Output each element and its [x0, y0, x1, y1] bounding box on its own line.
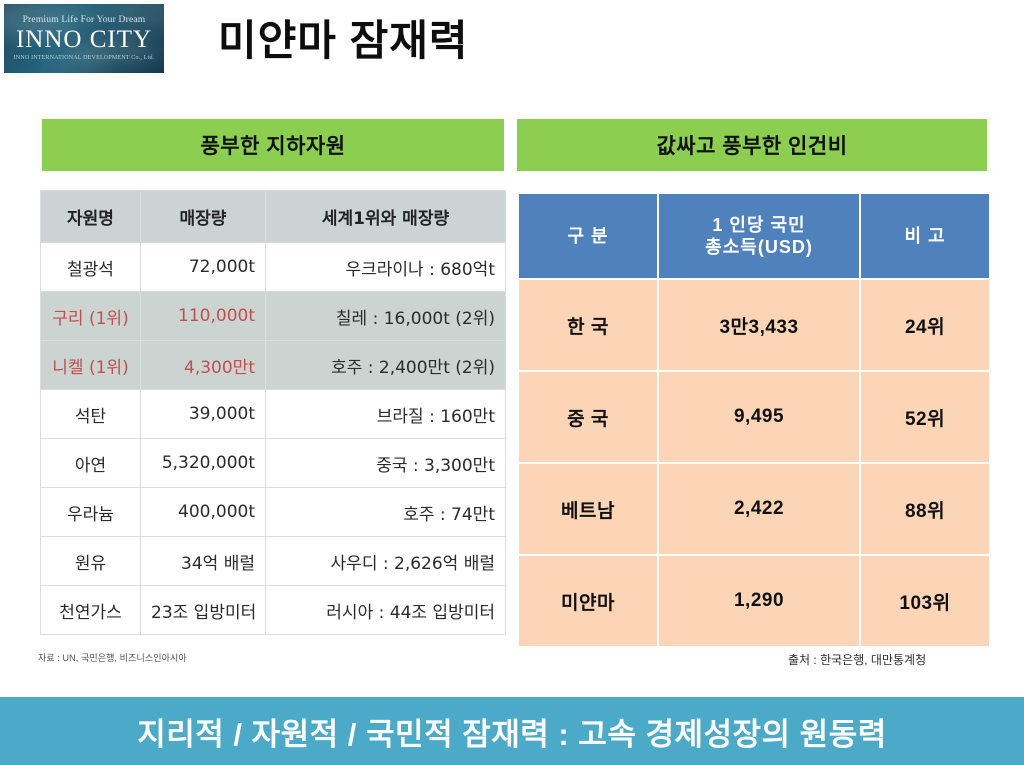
- table-row: 한 국 3만3,433 24위: [519, 280, 989, 370]
- cell-resource-name: 석탄: [41, 390, 141, 439]
- cell-rank: 24위: [861, 280, 989, 370]
- cell-country: 베트남: [519, 464, 657, 554]
- cell-resource-name: 니켈 (1위): [41, 341, 141, 390]
- cell-world-top: 브라질 : 160만t: [266, 390, 506, 439]
- cell-gni: 3만3,433: [659, 280, 859, 370]
- cell-resource-amount: 39,000t: [141, 390, 266, 439]
- table-header-row: 구 분 1 인당 국민 총소득(USD) 비 고: [519, 194, 989, 278]
- column-header-world-top: 세계1위와 매장량: [266, 191, 506, 243]
- column-header-resource-name: 자원명: [41, 191, 141, 243]
- cell-world-top: 우크라이나 : 680억t: [266, 243, 506, 292]
- table-header-row: 자원명 매장량 세계1위와 매장량: [41, 191, 506, 243]
- column-header-gni-line1: 1 인당 국민: [712, 215, 805, 235]
- logo-company-name: INNO INTERNATIONAL DEVELOPMENT Co., Ltd.: [14, 55, 155, 61]
- cell-resource-name: 천연가스: [41, 586, 141, 635]
- logo-brand-name: INNO CITY: [16, 27, 152, 53]
- cell-resource-amount: 400,000t: [141, 488, 266, 537]
- table-row: 중 국 9,495 52위: [519, 372, 989, 462]
- cell-resource-amount: 4,300만t: [141, 341, 266, 390]
- cell-world-top: 칠레 : 16,000t (2위): [266, 292, 506, 341]
- bottom-banner: 지리적 / 자원적 / 국민적 잠재력 : 고속 경제성장의 원동력: [0, 697, 1024, 765]
- cell-world-top: 호주 : 2,400만t (2위): [266, 341, 506, 390]
- section-header-resources: 풍부한 지하자원: [42, 119, 504, 171]
- cell-country: 중 국: [519, 372, 657, 462]
- cell-resource-name: 우라늄: [41, 488, 141, 537]
- section-header-labor-cost: 값싸고 풍부한 인건비: [517, 119, 987, 171]
- table-row: 석탄 39,000t 브라질 : 160만t: [41, 390, 506, 439]
- cell-world-top: 러시아 : 44조 입방미터: [266, 586, 506, 635]
- cell-resource-amount: 23조 입방미터: [141, 586, 266, 635]
- column-header-gni-line2: 총소득(USD): [705, 237, 813, 257]
- column-header-reserves: 매장량: [141, 191, 266, 243]
- table-row: 아연 5,320,000t 중국 : 3,300만t: [41, 439, 506, 488]
- cell-resource-amount: 34억 배럴: [141, 537, 266, 586]
- cell-gni: 2,422: [659, 464, 859, 554]
- column-header-gni: 1 인당 국민 총소득(USD): [659, 194, 859, 278]
- table-row: 천연가스 23조 입방미터 러시아 : 44조 입방미터: [41, 586, 506, 635]
- page-title: 미얀마 잠재력: [218, 18, 469, 64]
- table-row: 베트남 2,422 88위: [519, 464, 989, 554]
- logo-tagline: Premium Life For Your Dream: [23, 16, 146, 26]
- cell-gni: 1,290: [659, 556, 859, 646]
- cell-resource-name: 아연: [41, 439, 141, 488]
- inno-city-logo: Premium Life For Your Dream INNO CITY IN…: [4, 4, 164, 73]
- cell-resource-amount: 72,000t: [141, 243, 266, 292]
- cell-rank: 52위: [861, 372, 989, 462]
- table-row: 우라늄 400,000t 호주 : 74만t: [41, 488, 506, 537]
- table-row: 철광석 72,000t 우크라이나 : 680억t: [41, 243, 506, 292]
- table-row: 구리 (1위) 110,000t 칠레 : 16,000t (2위): [41, 292, 506, 341]
- cell-country: 한 국: [519, 280, 657, 370]
- source-note-resources: 자료 : UN, 국민은행, 비즈니스인아시아: [38, 651, 187, 664]
- cell-world-top: 호주 : 74만t: [266, 488, 506, 537]
- column-header-remarks: 비 고: [861, 194, 989, 278]
- cell-resource-amount: 110,000t: [141, 292, 266, 341]
- table-row: 니켈 (1위) 4,300만t 호주 : 2,400만t (2위): [41, 341, 506, 390]
- cell-world-top: 중국 : 3,300만t: [266, 439, 506, 488]
- table-row: 미얀마 1,290 103위: [519, 556, 989, 646]
- gni-table: 구 분 1 인당 국민 총소득(USD) 비 고 한 국 3만3,433 24위…: [517, 192, 991, 648]
- cell-resource-name: 구리 (1위): [41, 292, 141, 341]
- source-note-gni: 출처 : 한국은행, 대만통계청: [788, 651, 926, 668]
- cell-country: 미얀마: [519, 556, 657, 646]
- cell-resource-amount: 5,320,000t: [141, 439, 266, 488]
- cell-rank: 88위: [861, 464, 989, 554]
- cell-rank: 103위: [861, 556, 989, 646]
- cell-world-top: 사우디 : 2,626억 배럴: [266, 537, 506, 586]
- resources-table: 자원명 매장량 세계1위와 매장량 철광석 72,000t 우크라이나 : 68…: [40, 190, 506, 635]
- cell-gni: 9,495: [659, 372, 859, 462]
- table-row: 원유 34억 배럴 사우디 : 2,626억 배럴: [41, 537, 506, 586]
- cell-resource-name: 원유: [41, 537, 141, 586]
- bottom-banner-text: 지리적 / 자원적 / 국민적 잠재력 : 고속 경제성장의 원동력: [137, 709, 887, 754]
- column-header-category: 구 분: [519, 194, 657, 278]
- cell-resource-name: 철광석: [41, 243, 141, 292]
